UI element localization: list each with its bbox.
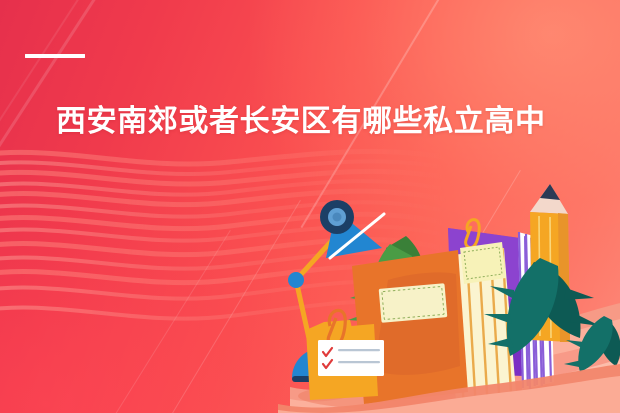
checklist-paper xyxy=(318,340,384,376)
lamp-elbow-joint xyxy=(288,272,304,288)
pencil-tip xyxy=(540,184,560,200)
accent-rule xyxy=(25,54,85,58)
page-title: 西安南郊或者长安区有哪些私立高中 xyxy=(56,103,546,141)
stationery-illustration xyxy=(278,170,620,413)
promo-banner: 西安南郊或者长安区有哪些私立高中 xyxy=(0,0,620,413)
